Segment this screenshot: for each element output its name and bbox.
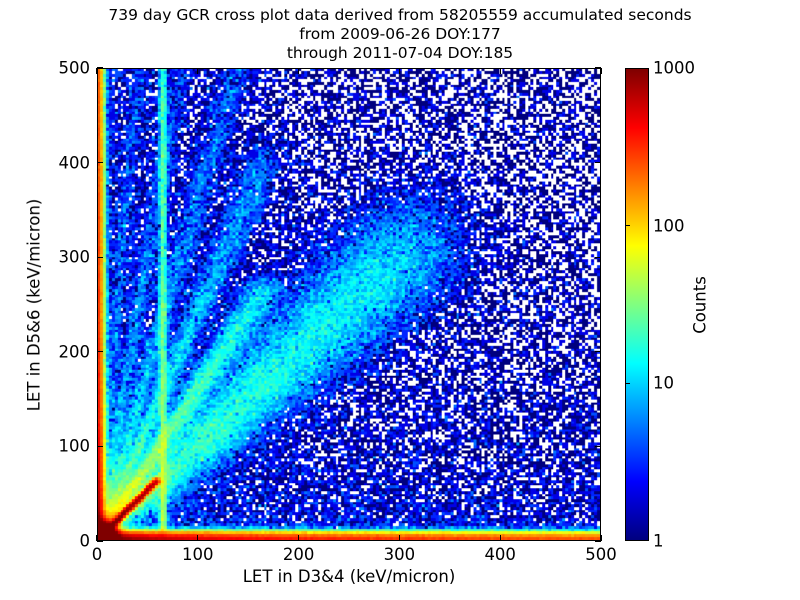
chart-title: 739 day GCR cross plot data derived from… (0, 6, 800, 25)
x-tick (399, 68, 400, 74)
y-tick-label: 400 (40, 153, 90, 172)
y-tick (97, 446, 103, 447)
x-axis-label: LET in D3&4 (keV/micron) (97, 567, 601, 586)
chart-subtitle-from: from 2009-06-26 DOY:177 (0, 25, 800, 44)
colorbar-tick-label: 100 (653, 216, 685, 235)
x-tick-label: 400 (484, 545, 516, 564)
chart-title-block: 739 day GCR cross plot data derived from… (0, 6, 800, 63)
y-tick (97, 67, 103, 68)
colorbar-tick-label: 1000 (653, 59, 695, 78)
colorbar-tick (625, 225, 630, 226)
density-scatter-canvas (98, 69, 600, 540)
y-tick (595, 446, 601, 447)
y-tick (595, 67, 601, 68)
x-tick (399, 535, 400, 541)
x-tick-label: 300 (384, 545, 416, 564)
y-tick (595, 540, 601, 541)
y-tick (595, 257, 601, 258)
x-tick-label: 0 (92, 545, 103, 564)
y-tick-label: 0 (40, 532, 90, 551)
x-tick (197, 535, 198, 541)
x-tick (96, 68, 97, 74)
y-tick (97, 162, 103, 163)
y-tick-label: 500 (40, 59, 90, 78)
x-tick (600, 68, 601, 74)
y-tick (97, 257, 103, 258)
plot-area (97, 68, 601, 541)
x-tick (197, 68, 198, 74)
figure-canvas: 739 day GCR cross plot data derived from… (0, 0, 800, 600)
colorbar-tick-label: 1 (653, 532, 664, 551)
y-tick (97, 351, 103, 352)
colorbar-gradient (626, 69, 648, 540)
x-tick (500, 68, 501, 74)
x-tick-label: 200 (283, 545, 315, 564)
colorbar-title: Counts (691, 276, 710, 334)
x-tick-label: 500 (585, 545, 617, 564)
colorbar-tick-label: 10 (653, 374, 674, 393)
y-axis-label: LET in D5&6 (keV/micron) (25, 198, 44, 411)
y-tick (595, 351, 601, 352)
x-tick (500, 535, 501, 541)
y-tick-label: 200 (40, 342, 90, 361)
y-tick (97, 540, 103, 541)
x-tick (298, 68, 299, 74)
colorbar (625, 68, 649, 541)
y-tick-label: 100 (40, 437, 90, 456)
y-tick-label: 300 (40, 248, 90, 267)
y-tick (595, 162, 601, 163)
colorbar-tick (625, 383, 630, 384)
x-tick (298, 535, 299, 541)
x-tick-label: 100 (182, 545, 214, 564)
